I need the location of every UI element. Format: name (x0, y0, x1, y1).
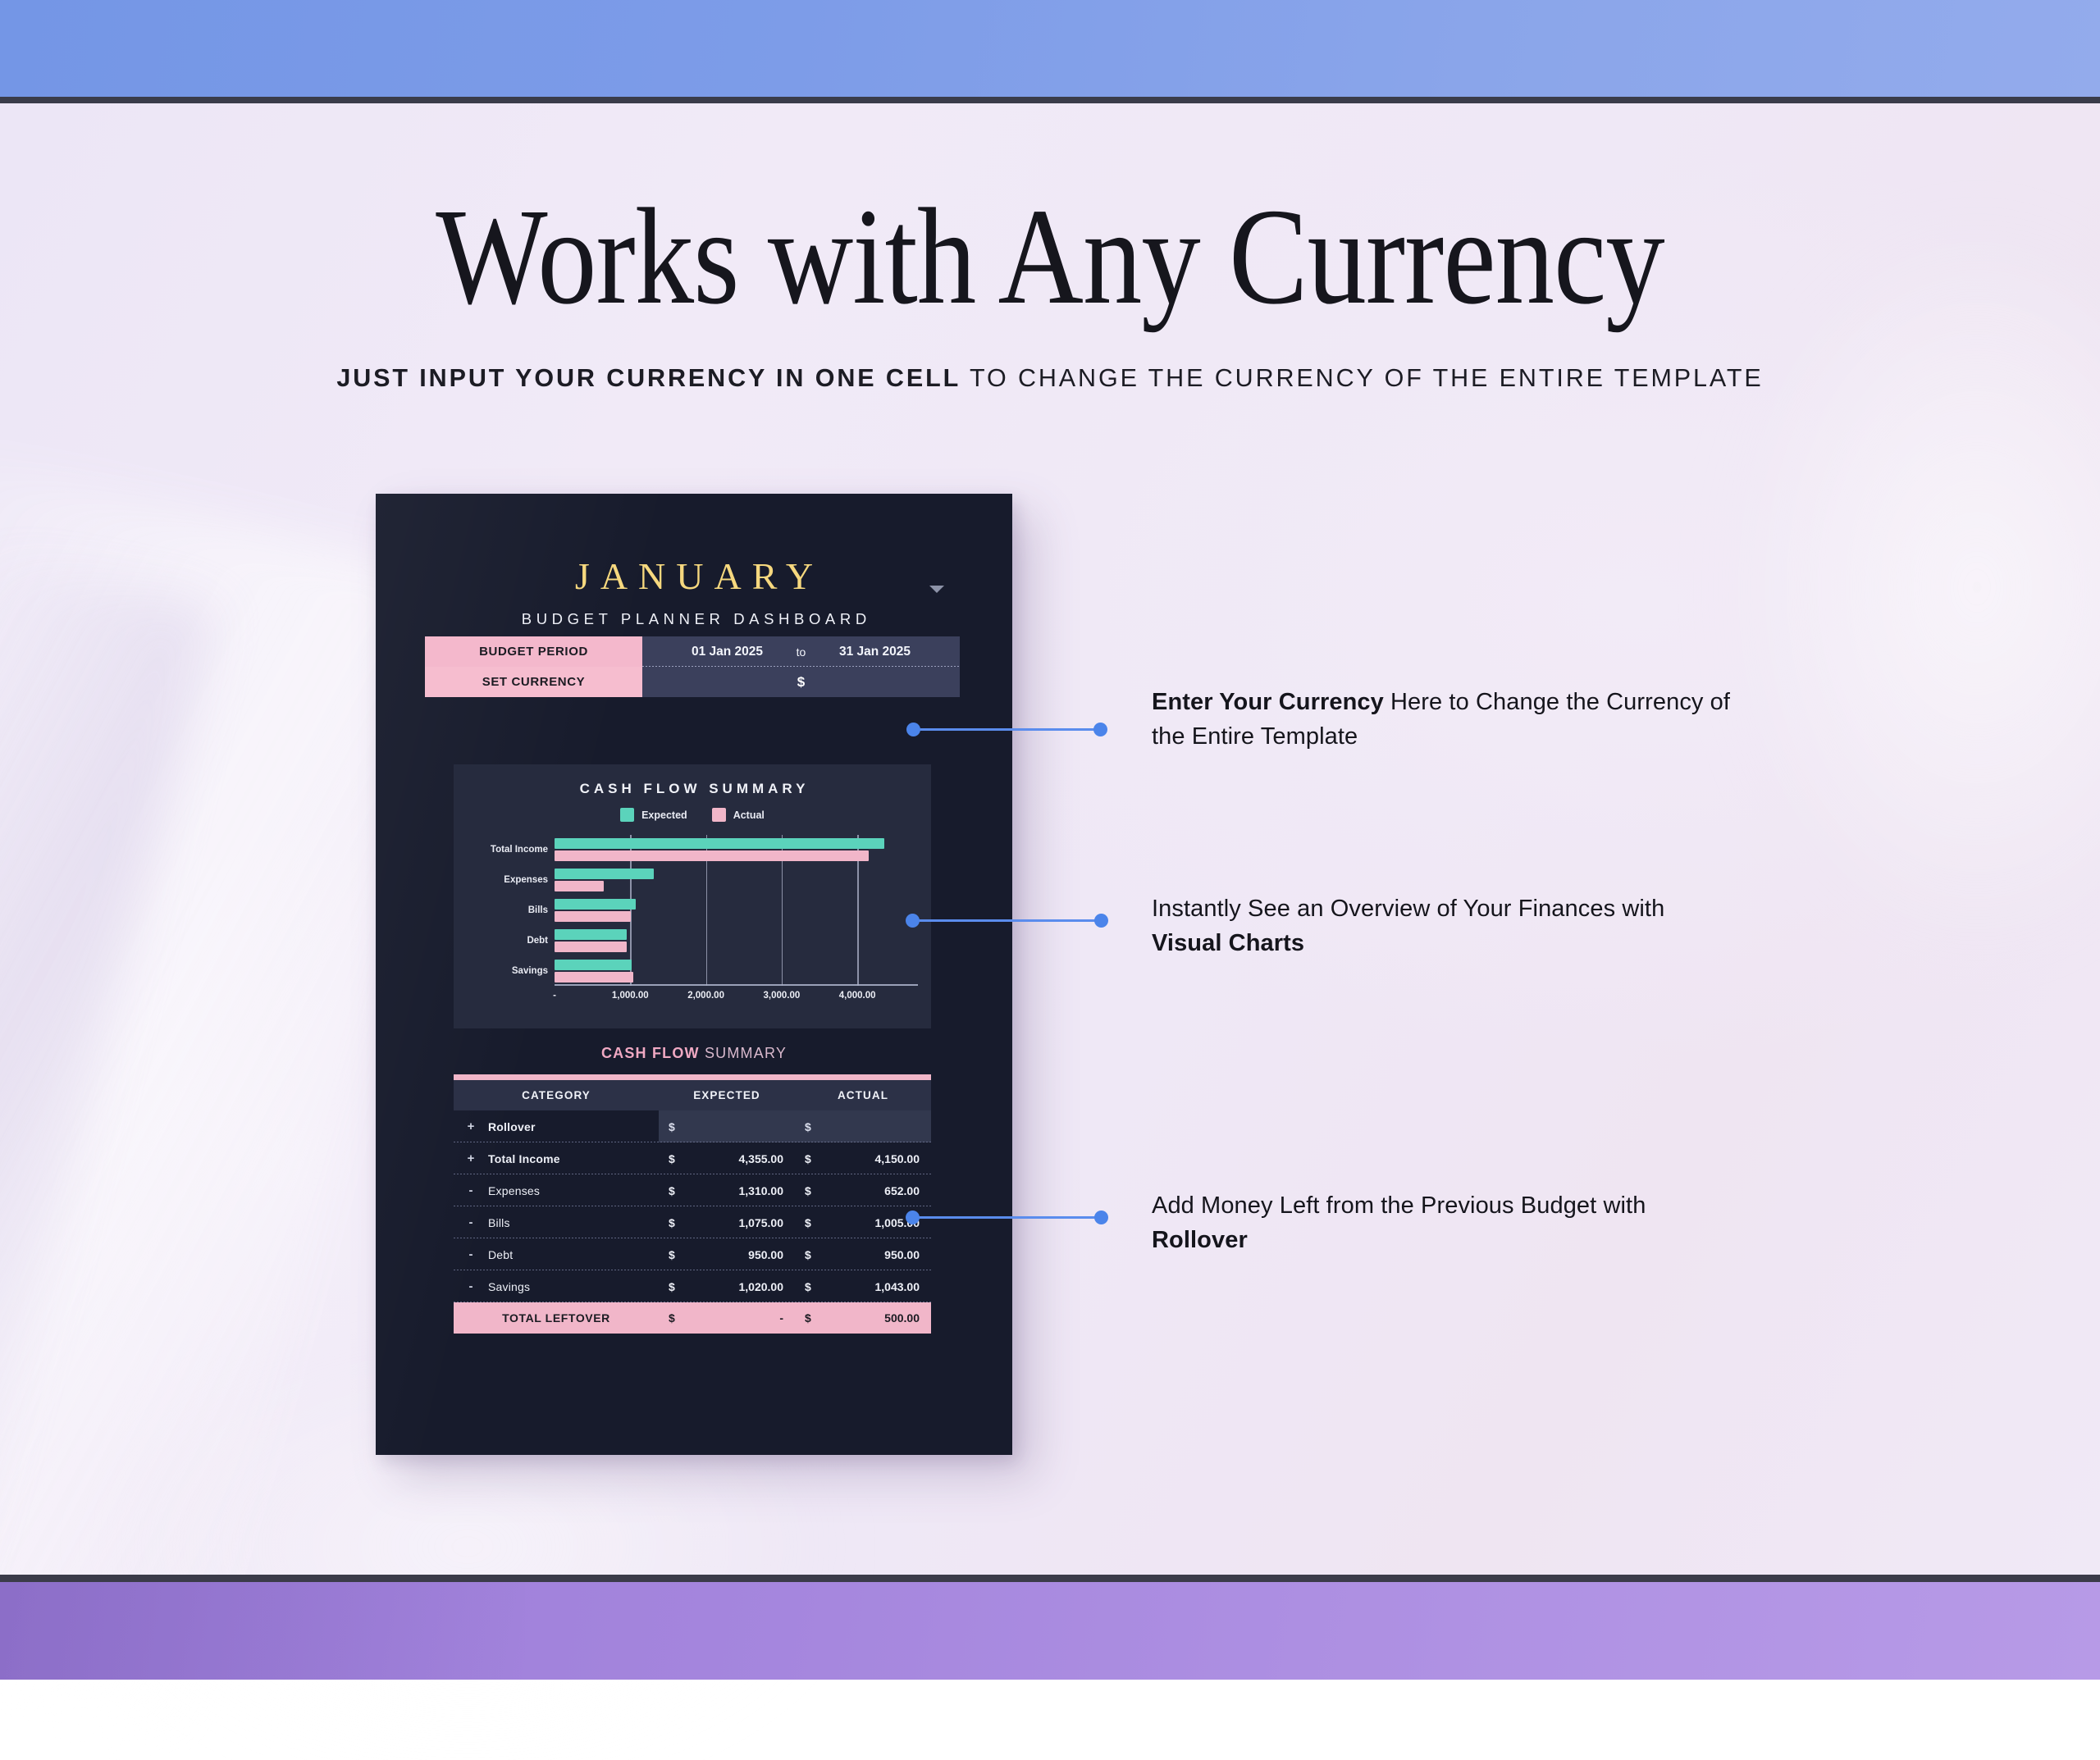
row-category-label: Bills (488, 1216, 659, 1229)
chart-x-tick-label: 4,000.00 (839, 991, 876, 1001)
legend-swatch-actual (712, 808, 726, 822)
annotation-rollover: Add Money Left from the Previous Budget … (1152, 1189, 1726, 1258)
chart-plot-area (555, 835, 918, 986)
cash-flow-chart-panel: CASH FLOW SUMMARY Expected Actual Total … (454, 764, 931, 1028)
annotation-charts: Instantly See an Overview of Your Financ… (1152, 892, 1726, 961)
chart-title: CASH FLOW SUMMARY (454, 781, 931, 797)
row-expected-cell[interactable]: $950.00 (659, 1248, 795, 1261)
subtitle-bold: JUST INPUT YOUR CURRENCY IN ONE CELL (336, 364, 961, 392)
row-actual-cell[interactable]: $1,043.00 (795, 1280, 931, 1293)
chart-bar-actual (555, 881, 604, 891)
connector-dot-target-currency (1093, 723, 1107, 736)
chart-legend: Expected Actual (454, 808, 931, 822)
row-sign: - (454, 1215, 488, 1229)
row-category-label: Savings (488, 1280, 659, 1293)
chart-x-axis-labels: -1,000.002,000.003,000.004,000.00 (555, 991, 918, 1009)
chart-bar-expected (555, 929, 627, 940)
chart-bar-expected (555, 960, 632, 970)
period-currency-block: BUDGET PERIOD 01 Jan 2025 to 31 Jan 2025… (425, 636, 960, 697)
total-leftover-expected: $ - (659, 1311, 795, 1325)
row-expected-cell-value: 1,075.00 (739, 1216, 784, 1229)
row-expected-cell-value: 1,310.00 (739, 1184, 784, 1197)
chart-category-label: Bills (458, 905, 548, 915)
currency-symbol: $ (669, 1280, 675, 1293)
budget-period-value[interactable]: 01 Jan 2025 to 31 Jan 2025 (642, 636, 960, 667)
chart-plot: Total IncomeExpensesBillsDebtSavings -1,… (454, 835, 931, 999)
currency-symbol: $ (805, 1152, 811, 1165)
chart-y-axis-labels: Total IncomeExpensesBillsDebtSavings (454, 835, 555, 986)
row-sign: + (454, 1119, 488, 1133)
top-divider-rule (0, 97, 2100, 103)
table-accent-bar (454, 1074, 931, 1080)
row-expected-cell-value: 4,355.00 (739, 1152, 784, 1165)
dashboard-subtitle: BUDGET PLANNER DASHBOARD (376, 610, 1012, 628)
row-sign: - (454, 1183, 488, 1197)
row-sign: + (454, 1151, 488, 1165)
table-row[interactable]: -Savings$1,020.00$1,043.00 (454, 1270, 931, 1302)
annotation-currency-bold: Enter Your Currency (1152, 689, 1384, 715)
chart-x-axis-line (555, 984, 918, 986)
row-category-label: Rollover (488, 1120, 659, 1133)
chart-x-tick-label: 3,000.00 (763, 991, 800, 1001)
period-end-date[interactable]: 31 Jan 2025 (824, 645, 926, 659)
currency-symbol: $ (669, 1311, 675, 1325)
currency-symbol: $ (805, 1280, 811, 1293)
row-category-label: Debt (488, 1248, 659, 1261)
period-start-date[interactable]: 01 Jan 2025 (677, 645, 778, 659)
bottom-divider-rule (0, 1575, 2100, 1582)
budget-period-label: BUDGET PERIOD (425, 636, 642, 667)
currency-symbol: $ (805, 1184, 811, 1197)
chart-bar-actual (555, 850, 869, 861)
row-actual-cell[interactable]: $950.00 (795, 1248, 931, 1261)
currency-symbol: $ (805, 1311, 811, 1325)
table-row[interactable]: -Debt$950.00$950.00 (454, 1238, 931, 1270)
total-leftover-row: TOTAL LEFTOVER $ - $ 500.00 (454, 1302, 931, 1334)
row-actual-cell-value: 4,150.00 (875, 1152, 920, 1165)
summary-title-bold: CASH FLOW (601, 1045, 700, 1061)
table-header-row: CATEGORY EXPECTED ACTUAL (454, 1080, 931, 1110)
currency-symbol-value[interactable]: $ (797, 674, 805, 691)
summary-table-title: CASH FLOW SUMMARY (376, 1045, 1012, 1062)
total-leftover-expected-value: - (779, 1311, 783, 1325)
total-leftover-label: TOTAL LEFTOVER (454, 1311, 659, 1325)
table-row[interactable]: +Rollover$$ (454, 1110, 931, 1142)
budget-period-row: BUDGET PERIOD 01 Jan 2025 to 31 Jan 2025 (425, 636, 960, 667)
row-actual-cell[interactable]: $4,150.00 (795, 1152, 931, 1165)
annotation-rollover-bold: Rollover (1152, 1227, 1248, 1253)
shadow-streak (0, 549, 215, 1708)
chart-category-label: Expenses (458, 875, 548, 885)
dashboard-month-title: JANUARY (376, 554, 1012, 598)
bottom-color-band (0, 1582, 2100, 1680)
page-title: Works with Any Currency (147, 187, 1953, 327)
total-leftover-actual: $ 500.00 (795, 1311, 931, 1325)
row-expected-cell[interactable]: $4,355.00 (659, 1152, 795, 1165)
row-expected-cell-value: 1,020.00 (739, 1280, 784, 1293)
budget-dashboard-card: JANUARY BUDGET PLANNER DASHBOARD BUDGET … (376, 494, 1012, 1455)
row-category-label: Total Income (488, 1152, 659, 1165)
row-sign: - (454, 1279, 488, 1293)
chevron-down-icon[interactable] (929, 586, 944, 593)
chart-bar-expected (555, 869, 654, 879)
currency-symbol: $ (669, 1216, 675, 1229)
connector-dot-target-rollover (1094, 1211, 1108, 1224)
currency-symbol: $ (669, 1184, 675, 1197)
highlight-glow-right (1723, 218, 2100, 956)
row-category-label: Expenses (488, 1184, 659, 1197)
chart-x-tick-label: 1,000.00 (612, 991, 649, 1001)
legend-label-expected: Expected (641, 809, 687, 821)
row-expected-cell-value: 950.00 (748, 1248, 783, 1261)
set-currency-input[interactable]: $ (642, 667, 960, 697)
set-currency-row: SET CURRENCY $ (425, 667, 960, 697)
row-expected-cell[interactable]: $1,310.00 (659, 1184, 795, 1197)
currency-symbol: $ (805, 1248, 811, 1261)
chart-category-label: Savings (458, 966, 548, 976)
row-actual-cell-value: 652.00 (884, 1184, 920, 1197)
chart-category-label: Total Income (458, 845, 548, 855)
row-actual-cell[interactable]: $652.00 (795, 1184, 931, 1197)
subtitle-regular: TO CHANGE THE CURRENCY OF THE ENTIRE TEM… (961, 364, 1764, 392)
column-header-expected: EXPECTED (659, 1089, 795, 1101)
rollover-highlight (659, 1110, 931, 1142)
chart-x-tick-label: - (553, 991, 556, 1001)
legend-item-expected: Expected (620, 808, 687, 822)
connector-dot-source-charts (906, 914, 920, 928)
chart-bar-actual (555, 972, 633, 983)
column-header-actual: ACTUAL (795, 1089, 931, 1101)
annotation-currency: Enter Your Currency Here to Change the C… (1152, 686, 1759, 755)
row-sign: - (454, 1247, 488, 1261)
row-actual-cell-value: 1,043.00 (875, 1280, 920, 1293)
annotation-rollover-prefix: Add Money Left from the Previous Budget … (1152, 1192, 1646, 1219)
page-subtitle: JUST INPUT YOUR CURRENCY IN ONE CELL TO … (0, 364, 2100, 393)
currency-symbol: $ (669, 1152, 675, 1165)
table-row[interactable]: +Total Income$4,355.00$4,150.00 (454, 1142, 931, 1174)
period-separator: to (778, 645, 824, 659)
row-actual-cell-value: 950.00 (884, 1248, 920, 1261)
table-row[interactable]: -Bills$1,075.00$1,005.00 (454, 1206, 931, 1238)
total-leftover-actual-value: 500.00 (884, 1311, 920, 1325)
row-expected-cell[interactable]: $1,020.00 (659, 1280, 795, 1293)
chart-bar-actual (555, 942, 627, 952)
annotation-charts-prefix: Instantly See an Overview of Your Financ… (1152, 896, 1664, 922)
legend-swatch-expected (620, 808, 634, 822)
chart-bar-expected (555, 899, 636, 910)
period-row-divider (642, 666, 960, 667)
chart-bar-expected (555, 838, 884, 849)
chart-category-label: Debt (458, 936, 548, 946)
bottom-band-shade (0, 1582, 525, 1680)
connector-dot-source-rollover (906, 1211, 920, 1224)
connector-line-currency (913, 728, 1100, 731)
summary-title-light: SUMMARY (700, 1045, 787, 1061)
connector-dot-target-charts (1094, 914, 1108, 928)
connector-dot-source-currency (906, 723, 920, 736)
poster-stage: Works with Any Currency JUST INPUT YOUR … (0, 0, 2100, 1680)
table-body: +Rollover$$+Total Income$4,355.00$4,150.… (454, 1110, 931, 1302)
annotation-charts-bold: Visual Charts (1152, 930, 1304, 956)
row-expected-cell[interactable]: $1,075.00 (659, 1216, 795, 1229)
cash-flow-table: CATEGORY EXPECTED ACTUAL +Rollover$$+Tot… (454, 1074, 931, 1334)
column-header-category: CATEGORY (454, 1089, 659, 1101)
chart-bar-actual (555, 911, 631, 922)
currency-symbol: $ (669, 1248, 675, 1261)
connector-line-charts (912, 919, 1101, 922)
set-currency-label: SET CURRENCY (425, 667, 642, 697)
currency-symbol: $ (805, 1216, 811, 1229)
top-color-band (0, 0, 2100, 97)
chart-x-tick-label: 2,000.00 (687, 991, 724, 1001)
table-row[interactable]: -Expenses$1,310.00$652.00 (454, 1174, 931, 1206)
legend-label-actual: Actual (733, 809, 765, 821)
connector-line-rollover (912, 1216, 1101, 1219)
legend-item-actual: Actual (712, 808, 765, 822)
row-divider (454, 1302, 931, 1302)
